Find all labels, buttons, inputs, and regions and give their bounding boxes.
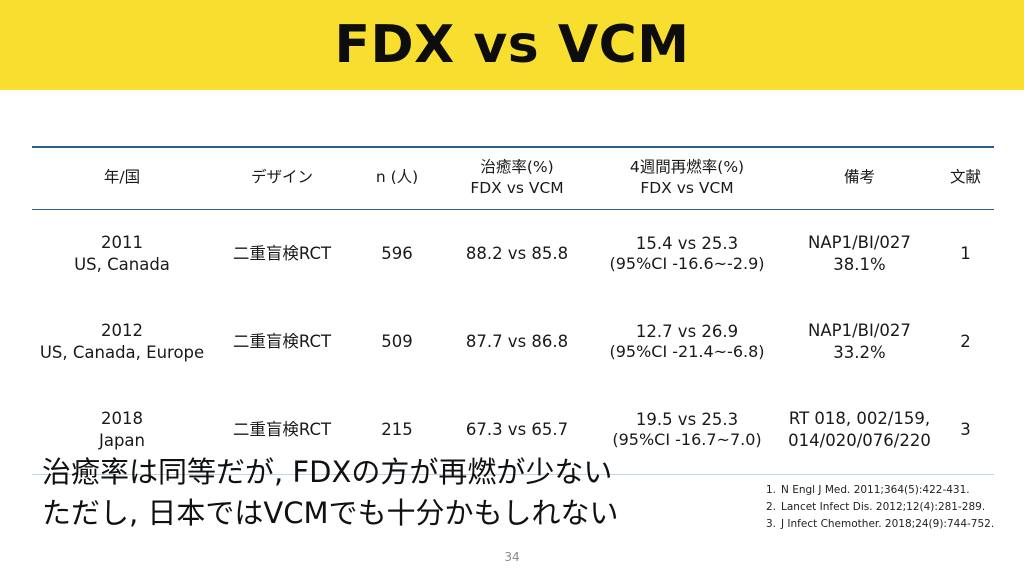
page-number: 34: [0, 550, 1024, 564]
cell-recurrence-ci: (95%CI -16.6~-2.9): [594, 254, 780, 275]
cell-reference: 1: [937, 209, 994, 298]
reference-text: N Engl J Med. 2011;364(5):422-431.: [781, 484, 970, 496]
cell-design: 二重盲検RCT: [212, 298, 352, 386]
cell-recurrence-rate: 15.4 vs 25.3 (95%CI -16.6~-2.9): [592, 209, 782, 298]
cell-recurrence-value: 12.7 vs 26.9: [594, 321, 780, 342]
cell-reference: 2: [937, 298, 994, 386]
cell-cure-rate: 88.2 vs 85.8: [442, 209, 592, 298]
cell-country: Japan: [34, 430, 210, 451]
cell-notes: RT 018, 002/159, 014/020/076/220: [782, 386, 937, 475]
column-header-notes: 備考: [782, 147, 937, 209]
title-banner: FDX vs VCM: [0, 0, 1024, 90]
column-header-design: デザイン: [212, 147, 352, 209]
header-line-1: 文献: [939, 167, 992, 188]
reference-number: 3.: [766, 516, 781, 533]
cell-year-country: 2012 US, Canada, Europe: [32, 298, 212, 386]
header-line-1: 備考: [784, 167, 935, 188]
table-header-row: 年/国 デザイン n (人) 治癒率(%) FDX vs VCM 4週間再燃率(…: [32, 147, 994, 209]
header-line-1: 4週間再燃率(%): [594, 157, 780, 178]
reference-list: 1.N Engl J Med. 2011;364(5):422-431. 2.L…: [766, 482, 1016, 533]
conclusion-line-1: 治癒率は同等だが, FDXの方が再燃が少ない: [42, 452, 732, 493]
reference-text: Lancet Infect Dis. 2012;12(4):281-289.: [781, 501, 985, 513]
reference-item: 3.J Infect Chemother. 2018;24(9):744-752…: [766, 516, 1016, 533]
table-body: 2011 US, Canada 二重盲検RCT 596 88.2 vs 85.8…: [32, 209, 994, 474]
column-header-recurrence-rate: 4週間再燃率(%) FDX vs VCM: [592, 147, 782, 209]
table-row: 2011 US, Canada 二重盲検RCT 596 88.2 vs 85.8…: [32, 209, 994, 298]
column-header-n: n (人): [352, 147, 442, 209]
cell-recurrence-value: 15.4 vs 25.3: [594, 233, 780, 254]
reference-item: 2.Lancet Infect Dis. 2012;12(4):281-289.: [766, 499, 1016, 516]
conclusion-line-2: ただし, 日本ではVCMでも十分かもしれない: [42, 493, 732, 534]
cell-recurrence-ci: (95%CI -21.4~-6.8): [594, 342, 780, 363]
reference-number: 1.: [766, 482, 781, 499]
cell-notes: NAP1/BI/027 38.1%: [782, 209, 937, 298]
cell-notes-line-1: NAP1/BI/027 38.1%: [784, 232, 935, 275]
cell-year: 2012: [34, 320, 210, 341]
cell-year-country: 2011 US, Canada: [32, 209, 212, 298]
cell-n: 596: [352, 209, 442, 298]
cell-recurrence-ci: (95%CI -16.7~7.0): [594, 430, 780, 451]
reference-item: 1.N Engl J Med. 2011;364(5):422-431.: [766, 482, 1016, 499]
cell-recurrence-value: 19.5 vs 25.3: [594, 409, 780, 430]
column-header-cure-rate: 治癒率(%) FDX vs VCM: [442, 147, 592, 209]
header-line-2: FDX vs VCM: [444, 178, 590, 199]
cell-cure-rate: 87.7 vs 86.8: [442, 298, 592, 386]
slide-title: FDX vs VCM: [335, 19, 690, 71]
cell-recurrence-rate: 12.7 vs 26.9 (95%CI -21.4~-6.8): [592, 298, 782, 386]
cell-notes-line-1: RT 018, 002/159,: [784, 408, 935, 429]
cell-country: US, Canada: [34, 254, 210, 275]
cell-notes: NAP1/BI/027 33.2%: [782, 298, 937, 386]
cell-year: 2011: [34, 232, 210, 253]
reference-text: J Infect Chemother. 2018;24(9):744-752.: [781, 518, 994, 530]
table-row: 2012 US, Canada, Europe 二重盲検RCT 509 87.7…: [32, 298, 994, 386]
column-header-reference: 文献: [937, 147, 994, 209]
cell-year: 2018: [34, 408, 210, 429]
reference-number: 2.: [766, 499, 781, 516]
comparison-table-container: 年/国 デザイン n (人) 治癒率(%) FDX vs VCM 4週間再燃率(…: [32, 146, 994, 475]
conclusion-block: 治癒率は同等だが, FDXの方が再燃が少ない ただし, 日本ではVCMでも十分か…: [42, 452, 732, 534]
header-line-1: デザイン: [214, 167, 350, 188]
cell-n: 509: [352, 298, 442, 386]
cell-notes-line-2: 014/020/076/220: [784, 430, 935, 451]
cell-country: US, Canada, Europe: [34, 342, 210, 363]
header-line-2: FDX vs VCM: [594, 178, 780, 199]
cell-design: 二重盲検RCT: [212, 209, 352, 298]
header-line-1: n (人): [354, 167, 440, 188]
table-header: 年/国 デザイン n (人) 治癒率(%) FDX vs VCM 4週間再燃率(…: [32, 147, 994, 209]
cell-notes-line-1: NAP1/BI/027 33.2%: [784, 320, 935, 363]
column-header-year-country: 年/国: [32, 147, 212, 209]
comparison-table: 年/国 デザイン n (人) 治癒率(%) FDX vs VCM 4週間再燃率(…: [32, 146, 994, 475]
cell-reference: 3: [937, 386, 994, 475]
header-line-1: 年/国: [34, 167, 210, 188]
header-line-1: 治癒率(%): [444, 157, 590, 178]
